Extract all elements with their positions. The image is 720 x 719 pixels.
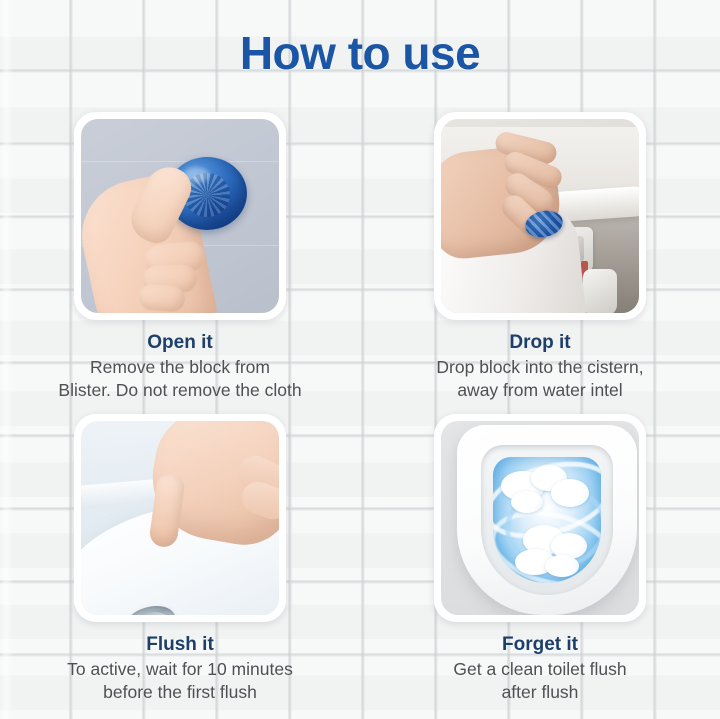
flush-button-inner	[130, 608, 170, 615]
step-image-card	[74, 414, 286, 622]
step-description: To active, wait for 10 minutes before th…	[10, 658, 350, 704]
step-flush-it: Flush it To active, wait for 10 minutes …	[0, 414, 360, 704]
step-image-card	[74, 112, 286, 320]
step-caption: Drop it Drop block into the cistern, awa…	[370, 331, 710, 402]
step-image-card	[434, 112, 646, 320]
step-description: Drop block into the cistern, away from w…	[370, 356, 710, 402]
hand-holding-blue-toilet-block-image	[81, 119, 279, 313]
step-title: Drop it	[370, 331, 710, 355]
step-caption: Open it Remove the block from Blister. D…	[10, 331, 350, 402]
hand-dropping-block-into-cistern-image	[441, 119, 639, 313]
step-open-it: Open it Remove the block from Blister. D…	[0, 112, 360, 414]
step-image-card	[434, 414, 646, 622]
steps-grid: Open it Remove the block from Blister. D…	[0, 112, 720, 704]
finger-shape	[138, 283, 186, 312]
step-description: Get a clean toilet flush after flush	[370, 658, 710, 704]
foam-bubble	[545, 555, 579, 577]
flush-button	[121, 600, 180, 615]
finger-pressing-flush-button-image	[81, 421, 279, 615]
infographic-page: How to use Open it Remove the block from…	[0, 0, 720, 719]
step-title: Flush it	[10, 633, 350, 657]
page-title: How to use	[0, 26, 720, 80]
swirling-water	[493, 457, 601, 583]
step-description: Remove the block from Blister. Do not re…	[10, 356, 350, 402]
foam-bubble	[551, 479, 589, 507]
wall-seam	[81, 161, 279, 162]
step-drop-it: Drop it Drop block into the cistern, awa…	[360, 112, 720, 414]
foam-bubble	[511, 491, 543, 513]
step-caption: Flush it To active, wait for 10 minutes …	[10, 633, 350, 704]
step-caption: Forget it Get a clean toilet flush after…	[370, 633, 710, 704]
float-cup	[583, 269, 617, 313]
step-title: Open it	[10, 331, 350, 355]
step-title: Forget it	[370, 633, 710, 657]
step-forget-it: Forget it Get a clean toilet flush after…	[360, 414, 720, 704]
toilet-bowl-with-blue-swirling-water-image	[441, 421, 639, 615]
